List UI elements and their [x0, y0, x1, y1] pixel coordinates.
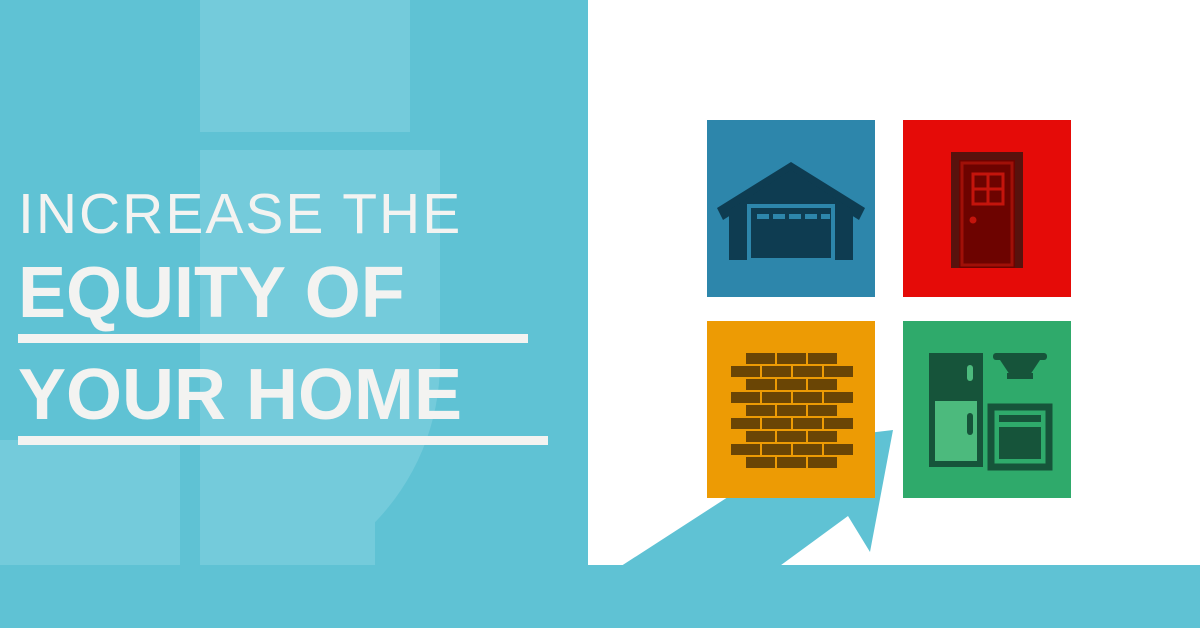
icon-tile-brick-wall[interactable] — [707, 321, 875, 498]
headline-underline-2 — [18, 436, 548, 445]
headline-underline-1 — [18, 334, 528, 343]
home-improvement-icon-grid — [707, 120, 1071, 498]
front-door-icon — [903, 120, 1071, 297]
brick-wall-icon — [707, 321, 875, 498]
garage-icon — [707, 120, 875, 297]
headline-line-2: EQUITY OF — [18, 255, 578, 331]
headline-line-1: INCREASE THE — [18, 186, 578, 243]
poster-canvas: INCREASE THE EQUITY OF YOUR HOME — [0, 0, 1200, 628]
icon-tile-garage[interactable] — [707, 120, 875, 297]
icon-tile-appliances[interactable] — [903, 321, 1071, 498]
headline-line-3: YOUR HOME — [18, 357, 578, 433]
appliances-icon — [903, 321, 1071, 498]
headline-group: INCREASE THE EQUITY OF YOUR HOME — [18, 186, 578, 434]
icon-tile-front-door[interactable] — [903, 120, 1071, 297]
watermark-top-block — [200, 0, 410, 132]
